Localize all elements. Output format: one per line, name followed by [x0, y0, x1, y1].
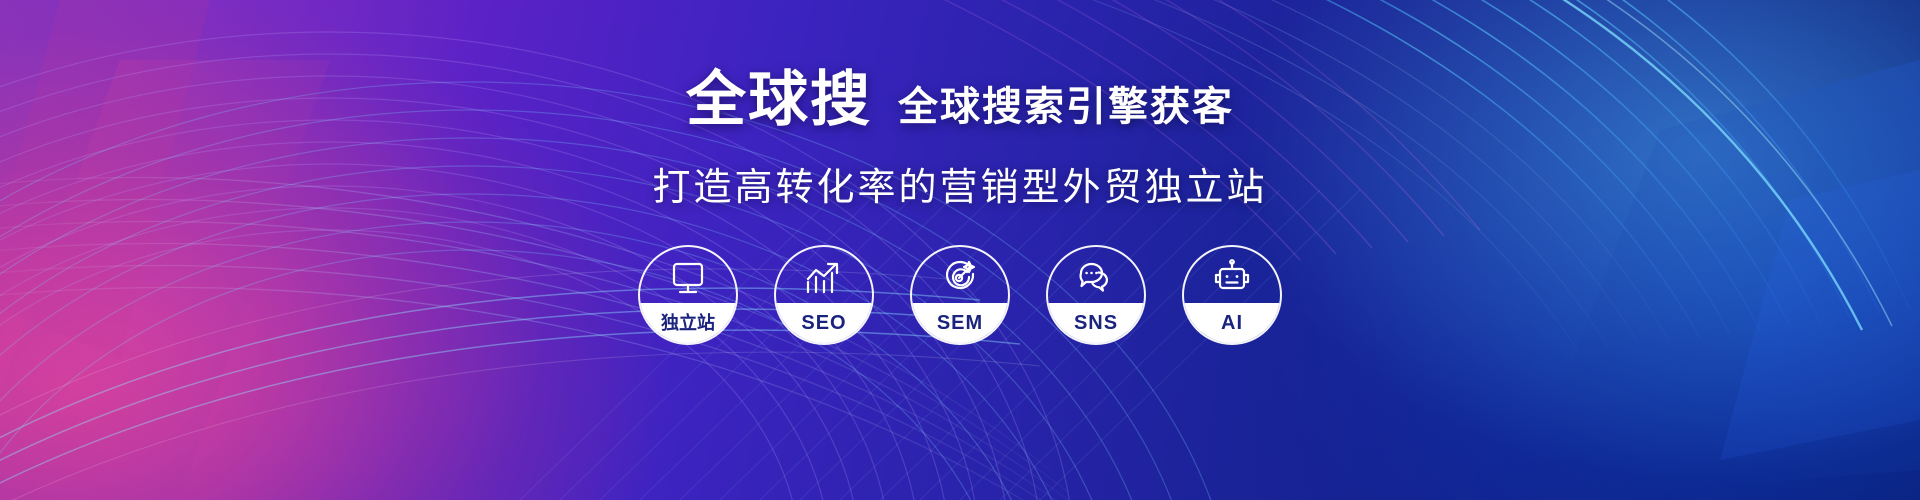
badge-ai[interactable]: AI [1182, 245, 1282, 345]
badge-label: SEM [937, 313, 983, 333]
subtitle: 打造高转化率的营销型外贸独立站 [652, 156, 1267, 211]
badge-label: AI [1221, 313, 1243, 333]
brand-title: 全球搜 [686, 70, 872, 130]
promo-banner: 全球搜 全球搜索引擎获客 打造高转化率的营销型外贸独立站 独立站 [0, 0, 1920, 500]
badge-label-plate: SNS [1048, 303, 1144, 343]
chat-bubbles-icon [1048, 247, 1144, 303]
headline: 全球搜 全球搜索引擎获客 [686, 70, 1234, 130]
badge-sem[interactable]: SEM [910, 245, 1010, 345]
monitor-icon [640, 247, 736, 303]
badge-seo[interactable]: SEO [774, 245, 874, 345]
service-badge-list: 独立站 SEO [638, 245, 1282, 345]
badge-sns[interactable]: SNS [1046, 245, 1146, 345]
banner-content: 全球搜 全球搜索引擎获客 打造高转化率的营销型外贸独立站 独立站 [0, 0, 1920, 500]
target-dart-icon [912, 247, 1008, 303]
robot-head-icon [1184, 247, 1280, 303]
headline-tagline: 全球搜索引擎获客 [898, 87, 1234, 127]
badge-label: SEO [801, 313, 846, 333]
badge-label-plate: AI [1184, 303, 1280, 343]
badge-label: 独立站 [661, 314, 715, 332]
badge-independent-site[interactable]: 独立站 [638, 245, 738, 345]
bar-chart-arrow-icon [776, 247, 872, 303]
badge-label-plate: SEM [912, 303, 1008, 343]
badge-label-plate: 独立站 [640, 303, 736, 343]
badge-label: SNS [1074, 313, 1118, 333]
badge-label-plate: SEO [776, 303, 872, 343]
